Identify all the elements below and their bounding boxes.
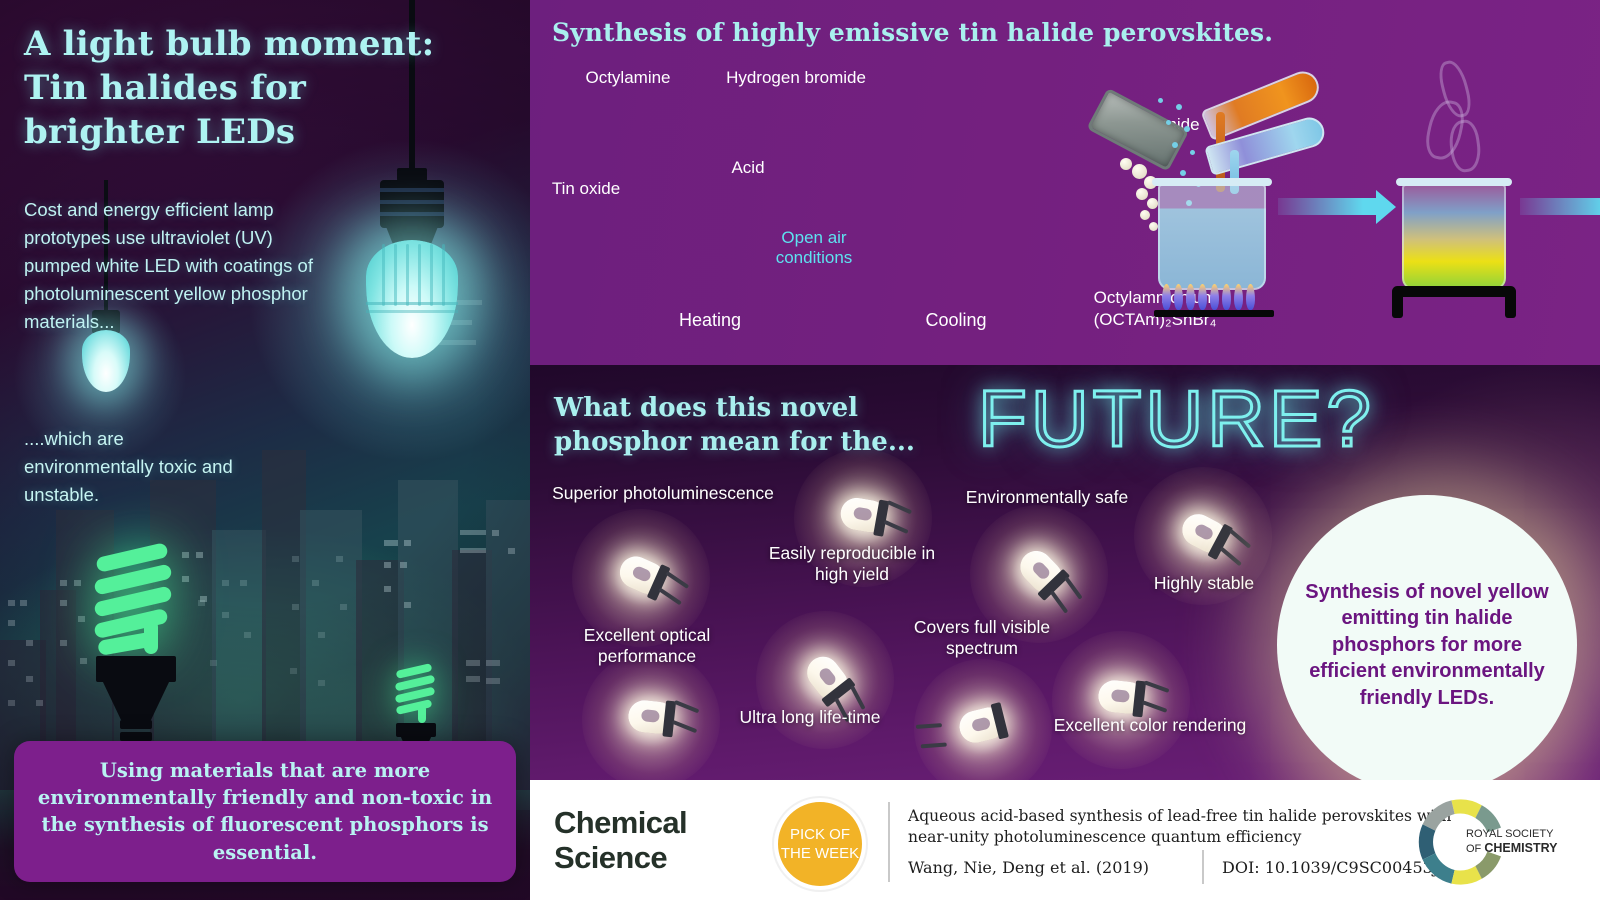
future-neon-word: FUTURE? [978, 373, 1375, 465]
process-arrow-1 [1278, 198, 1378, 215]
footer-divider [888, 802, 890, 882]
led-icon [604, 673, 699, 768]
label-acid: Acid [708, 158, 788, 178]
rsc-line-1: ROYAL SOCIETY [1466, 828, 1558, 841]
conclusion-text: Synthesis of novel yellow emitting tin h… [1302, 579, 1552, 711]
synthesis-title: Synthesis of highly emissive tin halide … [552, 18, 1273, 47]
left-paragraph-1: Cost and energy efficient lamp prototype… [24, 196, 344, 337]
process-arrow-1-head [1376, 190, 1396, 224]
process-arrow-2 [1520, 198, 1600, 215]
label-octylamine: Octylamine [548, 68, 708, 88]
label-cooling: Cooling [866, 310, 1046, 332]
paper-authors: Wang, Nie, Deng et al. (2019) [908, 858, 1149, 877]
led-icon [931, 676, 1035, 780]
rsc-line-2a: OF [1466, 843, 1484, 855]
left-paragraph-2: ....which are environmentally toxic and … [24, 425, 234, 509]
led-icon [584, 521, 698, 635]
beaker-cooling [1402, 178, 1506, 290]
journal-name-line1: Chemical [554, 806, 687, 841]
rsc-wordmark: ROYAL SOCIETY OF CHEMISTRY [1466, 828, 1558, 856]
infographic-root: A light bulb moment: Tin halides for bri… [0, 0, 1600, 900]
footer-divider-2 [1202, 850, 1204, 884]
feature-label: Highly stable [1144, 573, 1264, 594]
burner-bar [1154, 310, 1274, 317]
pick-of-the-week-badge: PICK OF THE WEEK [774, 798, 866, 890]
page-title: A light bulb moment: Tin halides for bri… [24, 22, 444, 155]
footer-bar: Chemical Science PICK OF THE WEEK Aqueou… [530, 780, 1600, 900]
feature-label: Excellent color rendering [1050, 715, 1250, 736]
feature-label: Ultra long life-time [730, 707, 890, 728]
feature-label: Environmentally safe [952, 487, 1142, 508]
feature-label: Easily reproducible in high yield [752, 543, 952, 586]
journal-name-line2: Science [554, 841, 687, 876]
label-tin-oxide: Tin oxide [538, 178, 634, 199]
left-panel: A light bulb moment: Tin halides for bri… [0, 0, 530, 900]
left-callout-box: Using materials that are more environmen… [14, 741, 516, 882]
label-hydrogen-bromide: Hydrogen bromide [696, 68, 896, 88]
rsc-line-2b: CHEMISTRY [1484, 841, 1557, 855]
conclusion-circle: Synthesis of novel yellow emitting tin h… [1277, 495, 1577, 795]
label-open-air: Open air conditions [744, 228, 884, 269]
future-question: What does this novel phosphor mean for t… [554, 391, 974, 460]
beaker-heating [1158, 178, 1266, 290]
feature-label: Excellent optical performance [542, 625, 752, 668]
cooling-stand [1392, 286, 1516, 316]
paper-title: Aqueous acid-based synthesis of lead-fre… [908, 806, 1468, 848]
journal-logo: Chemical Science [554, 806, 687, 875]
rsc-logo: ROYAL SOCIETY OF CHEMISTRY [1406, 798, 1576, 886]
pick-of-the-week-text: PICK OF THE WEEK [778, 825, 862, 864]
synthesis-panel: Synthesis of highly emissive tin halide … [530, 0, 1600, 365]
feature-label: Covers full visible spectrum [912, 617, 1052, 660]
feature-label: Superior photoluminescence [548, 483, 778, 504]
label-heating: Heating [620, 310, 800, 332]
